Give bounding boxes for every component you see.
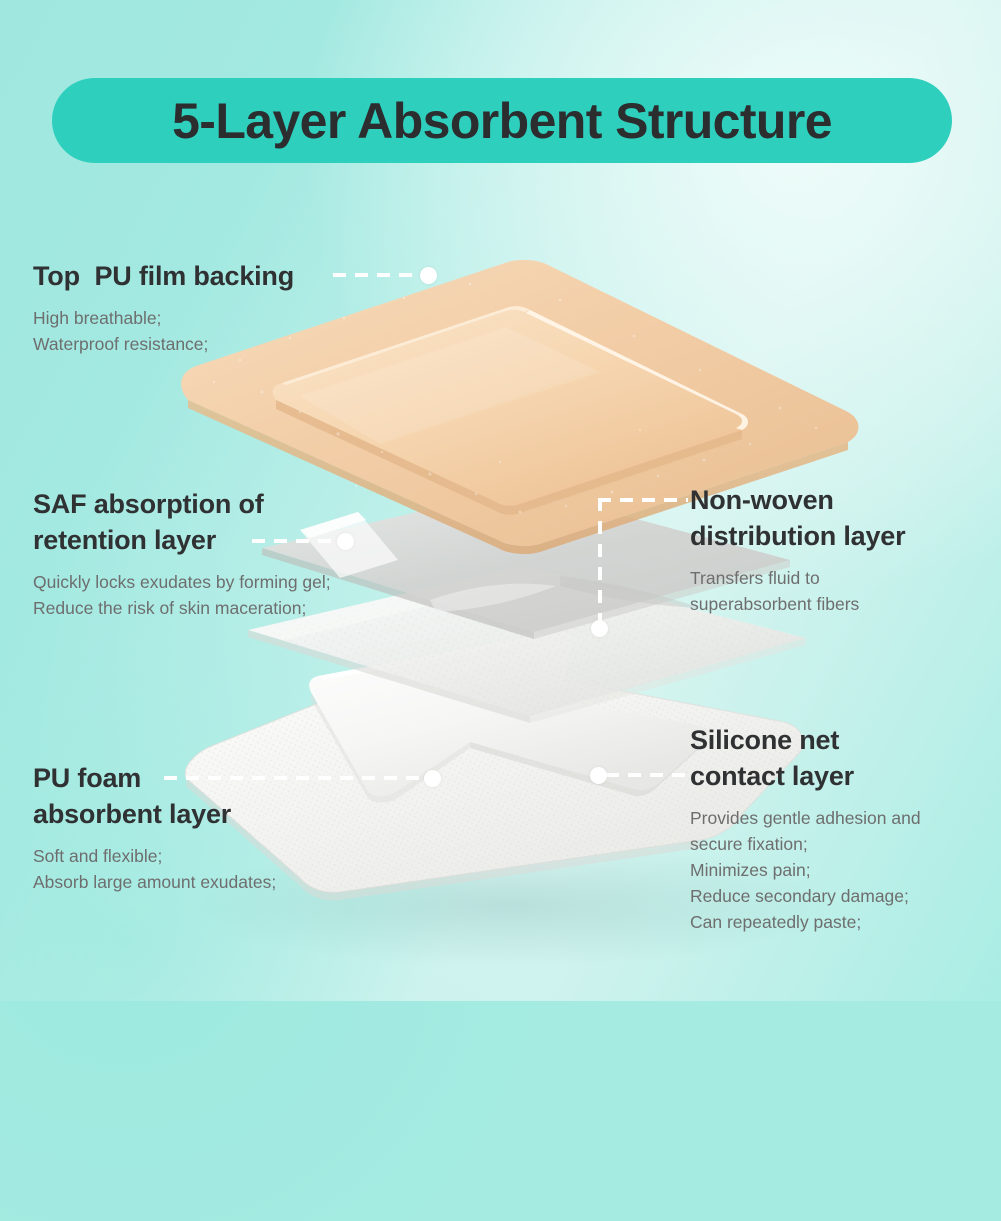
label-pu-foam-absorbent-layer-sub: Soft and flexible; Absorb large amount e… bbox=[33, 844, 276, 896]
label-saf-retention-layer-title: SAF absorption of retention layer bbox=[33, 486, 331, 558]
label-saf-retention-layer: SAF absorption of retention layer Quickl… bbox=[33, 486, 331, 622]
leader-non-woven-dash-horizontal bbox=[598, 498, 688, 502]
leader-top-film-dot bbox=[420, 267, 437, 284]
label-non-woven-distribution-layer: Non-woven distribution layer Transfers f… bbox=[690, 482, 905, 618]
label-top-pu-film-backing: Top PU film backing High breathable; Wat… bbox=[33, 258, 294, 358]
label-saf-retention-layer-sub: Quickly locks exudates by forming gel; R… bbox=[33, 570, 331, 622]
leader-saf-dot bbox=[337, 533, 354, 550]
label-silicone-net-contact-layer: Silicone net contact layer Provides gent… bbox=[690, 722, 921, 936]
label-pu-foam-absorbent-layer-title: PU foam absorbent layer bbox=[33, 760, 276, 832]
leader-silicone-dot bbox=[590, 767, 607, 784]
label-non-woven-distribution-layer-sub: Transfers fluid to superabsorbent fibers bbox=[690, 566, 905, 618]
title-banner: 5-Layer Absorbent Structure bbox=[52, 78, 952, 163]
leader-non-woven-dot bbox=[591, 620, 608, 637]
leader-non-woven-dash-vertical bbox=[598, 498, 602, 628]
label-top-pu-film-backing-title: Top PU film backing bbox=[33, 258, 294, 294]
leader-pu-foam-dash bbox=[164, 776, 432, 780]
label-pu-foam-absorbent-layer: PU foam absorbent layer Soft and flexibl… bbox=[33, 760, 276, 896]
leader-silicone-dash bbox=[606, 773, 686, 777]
page-title: 5-Layer Absorbent Structure bbox=[172, 96, 832, 146]
leader-top-film-dash bbox=[333, 273, 425, 277]
leader-saf-dash bbox=[252, 539, 344, 543]
label-top-pu-film-backing-sub: High breathable; Waterproof resistance; bbox=[33, 306, 294, 358]
label-non-woven-distribution-layer-title: Non-woven distribution layer bbox=[690, 482, 905, 554]
label-silicone-net-contact-layer-title: Silicone net contact layer bbox=[690, 722, 921, 794]
label-silicone-net-contact-layer-sub: Provides gentle adhesion and secure fixa… bbox=[690, 806, 921, 935]
leader-pu-foam-dot bbox=[424, 770, 441, 787]
